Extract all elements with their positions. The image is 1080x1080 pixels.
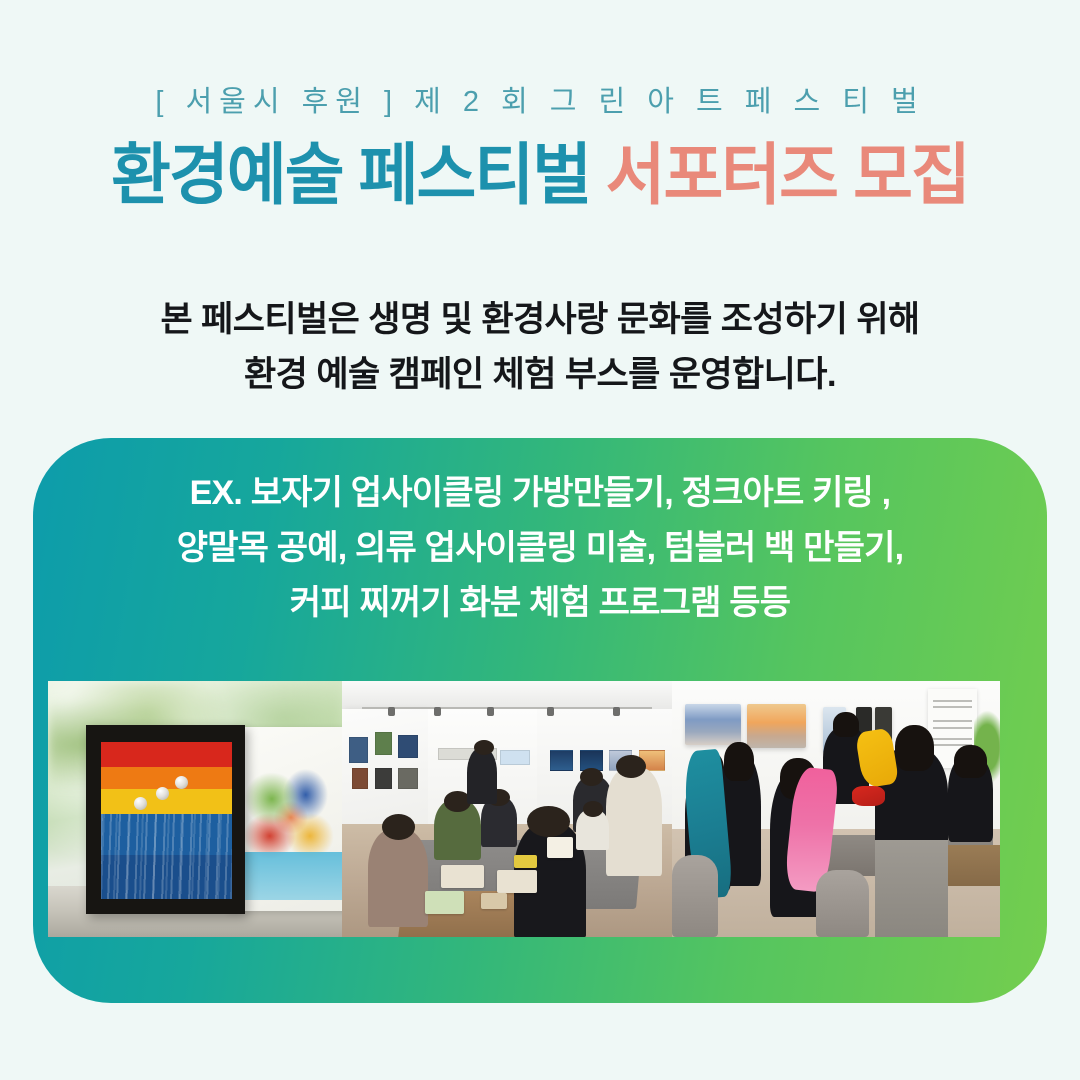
description-line-1: 본 페스티벌은 생명 및 환경사랑 문화를 조성하기 위해: [0, 292, 1080, 347]
standing-visitor-head: [616, 755, 646, 778]
fabric-upcycling-session-photo: [672, 681, 1000, 937]
bead-decoration: [175, 776, 188, 789]
participant-head: [382, 814, 415, 840]
description-line-2: 환경 예술 캠페인 체험 부스를 운영합니다.: [0, 347, 1080, 402]
instructor-hair: [833, 712, 859, 738]
spotlight-fixture: [487, 707, 494, 716]
headline-teal-part: 환경예술 페스티벌: [111, 138, 590, 213]
side-table: [948, 845, 1000, 886]
wall-artwork: [398, 735, 418, 758]
example-program-list: EX. 보자기 업사이클링 가방만들기, 정크아트 키링 , 양말목 공예, 의…: [33, 466, 1047, 631]
participant-head: [580, 768, 603, 786]
child-head: [583, 801, 603, 816]
example-line-1: EX. 보자기 업사이클링 가방만들기, 정크아트 키링 ,: [33, 466, 1047, 521]
wall-artwork: [375, 768, 392, 788]
wall-sign: [500, 750, 530, 765]
participant-hair: [724, 742, 754, 780]
event-kicker: [ 서울시 후원 ] 제 2 회 그 린 아 트 페 스 티 벌: [0, 78, 1080, 120]
felt-rainbow-sea-art: [101, 742, 233, 899]
spotlight-fixture: [613, 707, 620, 716]
participant: [368, 829, 427, 926]
craft-material: [514, 855, 537, 868]
tote-bag: [497, 870, 537, 893]
participant-lower-body: [875, 840, 947, 937]
page-title: 환경예술 페스티벌서포터즈 모집: [16, 140, 1064, 212]
headline-coral-part: 서포터즈 모집: [606, 138, 969, 213]
spotlight-fixture: [388, 707, 395, 716]
craft-material: [481, 893, 507, 908]
bead-decoration: [134, 797, 147, 810]
bead-decoration: [156, 787, 169, 800]
poster-text-line: [933, 700, 972, 702]
wall-artwork: [352, 768, 369, 788]
craft-material: [425, 891, 465, 914]
instruction-sheet: [547, 837, 573, 857]
felt-rainbow-artwork-photo: [48, 681, 342, 937]
participant-head: [527, 806, 570, 837]
standing-visitor: [606, 768, 662, 876]
wall-artwork: [398, 768, 418, 788]
example-line-3: 커피 찌꺼기 화분 체험 프로그램 등등: [33, 576, 1047, 631]
star-canvas: [230, 727, 342, 911]
felt-artwork-frame: [86, 725, 245, 914]
landscape-artwork: [685, 704, 741, 745]
example-line-2: 양말목 공예, 의류 업사이클링 미술, 텀블러 백 만들기,: [33, 521, 1047, 576]
participant-hair: [954, 745, 987, 778]
chair: [816, 870, 868, 937]
standing-visitor-head: [474, 740, 494, 755]
poster-text-line: [933, 727, 972, 729]
gallery-craft-workshop-photo: [342, 681, 672, 937]
tote-bag: [441, 865, 484, 888]
description-block: 본 페스티벌은 생명 및 환경사랑 문화를 조성하기 위해 환경 예술 캠페인 …: [0, 292, 1080, 403]
participant-hair: [895, 725, 934, 771]
wall-artwork: [550, 750, 573, 770]
track-light-rail: [362, 707, 652, 709]
spotlight-fixture: [434, 707, 441, 716]
spotlight-fixture: [547, 707, 554, 716]
sunset-artwork: [747, 704, 806, 748]
poster-text-line: [933, 738, 972, 740]
program-examples-card: EX. 보자기 업사이클링 가방만들기, 정크아트 키링 , 양말목 공예, 의…: [33, 438, 1047, 1003]
photo-strip: [48, 681, 1000, 937]
wall-artwork: [349, 737, 369, 763]
red-fabric: [852, 786, 885, 806]
wall-artwork: [375, 732, 392, 755]
chair: [672, 855, 718, 937]
standing-visitor: [467, 748, 497, 804]
star-canvas-water: [235, 852, 342, 900]
poster-text-line: [933, 720, 972, 722]
poster-text-line: [933, 706, 972, 708]
